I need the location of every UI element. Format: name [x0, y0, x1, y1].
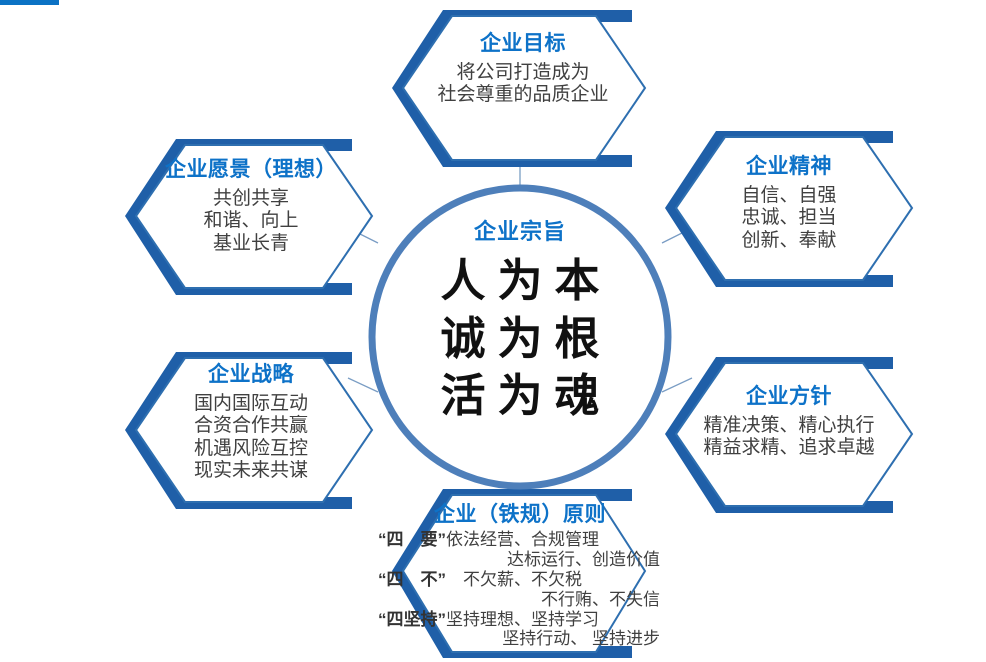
node-goal-line-1: 将公司打造成为: [398, 62, 648, 84]
center-motto: 人为本 诚为根 活为魂: [372, 252, 668, 425]
node-strategy-body: 国内国际互动 合资合作共赢 机遇风险互控 现实未来共谋: [126, 393, 376, 483]
principle-row-label: “四坚持”: [378, 610, 446, 630]
node-policy-body: 精准决策、精心执行 精益求精、追求卓越: [664, 415, 914, 460]
principle-row-label: “四 要”: [378, 530, 446, 550]
node-goal-body: 将公司打造成为 社会尊重的品质企业: [398, 62, 648, 107]
node-goal-title: 企业目标: [398, 32, 648, 57]
node-policy-title: 企业方针: [664, 385, 914, 410]
principle-row: “四 不” 不欠薪、不欠税: [374, 570, 666, 590]
node-spirit-line-1: 自信、自强: [664, 185, 914, 207]
principle-row: “四 要” 依法经营、合规管理: [374, 530, 666, 550]
principle-row: 达标运行、创造价值: [374, 550, 666, 570]
principle-row-text: 坚持行动、 坚持进步: [502, 629, 660, 649]
center-motto-line-1: 人为本: [372, 252, 668, 310]
node-principle-title: 企业（铁规）原则: [374, 498, 666, 528]
node-spirit-line-2: 忠诚、担当: [664, 207, 914, 229]
principle-row-text: 达标运行、创造价值: [507, 550, 660, 570]
node-spirit-title: 企业精神: [664, 155, 914, 180]
principle-row-text: 不欠薪、不欠税: [446, 570, 582, 590]
node-policy-line-1: 精准决策、精心执行: [664, 415, 914, 437]
node-goal-text: 企业目标 将公司打造成为 社会尊重的品质企业: [398, 32, 648, 107]
node-spirit-line-3: 创新、奉献: [664, 230, 914, 252]
node-vision-body: 共创共享 和谐、向上 基业长青: [126, 188, 376, 255]
node-goal-line-2: 社会尊重的品质企业: [398, 84, 648, 106]
node-strategy-line-4: 现实未来共谋: [126, 460, 376, 482]
center-motto-line-3: 活为魂: [372, 367, 668, 425]
node-strategy-title: 企业战略: [126, 363, 376, 388]
diagram-canvas: 企业宗旨 人为本 诚为根 活为魂 企业目标 将公司打造成为 社会尊重的品质企业 …: [0, 0, 986, 662]
principle-row-text: 不行贿、不失信: [541, 590, 660, 610]
node-spirit-text: 企业精神 自信、自强 忠诚、担当 创新、奉献: [664, 155, 914, 252]
principle-row-label: “四 不”: [378, 570, 446, 590]
node-vision-line-2: 和谐、向上: [126, 210, 376, 232]
node-strategy-line-2: 合资合作共赢: [126, 415, 376, 437]
node-strategy-line-1: 国内国际互动: [126, 393, 376, 415]
node-vision-text: 企业愿景（理想） 共创共享 和谐、向上 基业长青: [126, 158, 376, 255]
node-policy-text: 企业方针 精准决策、精心执行 精益求精、追求卓越: [664, 385, 914, 460]
principle-row: 不行贿、不失信: [374, 590, 666, 610]
principle-row: 坚持行动、 坚持进步: [374, 629, 666, 649]
node-spirit-body: 自信、自强 忠诚、担当 创新、奉献: [664, 185, 914, 252]
node-vision-title: 企业愿景（理想）: [126, 158, 376, 183]
node-vision-line-1: 共创共享: [126, 188, 376, 210]
node-vision-line-3: 基业长青: [126, 233, 376, 255]
node-strategy-text: 企业战略 国内国际互动 合资合作共赢 机遇风险互控 现实未来共谋: [126, 363, 376, 482]
node-policy-line-2: 精益求精、追求卓越: [664, 437, 914, 459]
center-purpose-block: 企业宗旨 人为本 诚为根 活为魂: [372, 214, 668, 425]
node-principle-text: 企业（铁规）原则 “四 要” 依法经营、合规管理 达标运行、创造价值 “四 不”…: [374, 498, 666, 649]
center-motto-line-2: 诚为根: [372, 310, 668, 368]
center-title: 企业宗旨: [372, 214, 668, 246]
principle-row-text: 坚持理想、坚持学习: [446, 610, 599, 630]
principle-row-text: 依法经营、合规管理: [446, 530, 599, 550]
principle-row: “四坚持” 坚持理想、坚持学习: [374, 610, 666, 630]
node-strategy-line-3: 机遇风险互控: [126, 438, 376, 460]
